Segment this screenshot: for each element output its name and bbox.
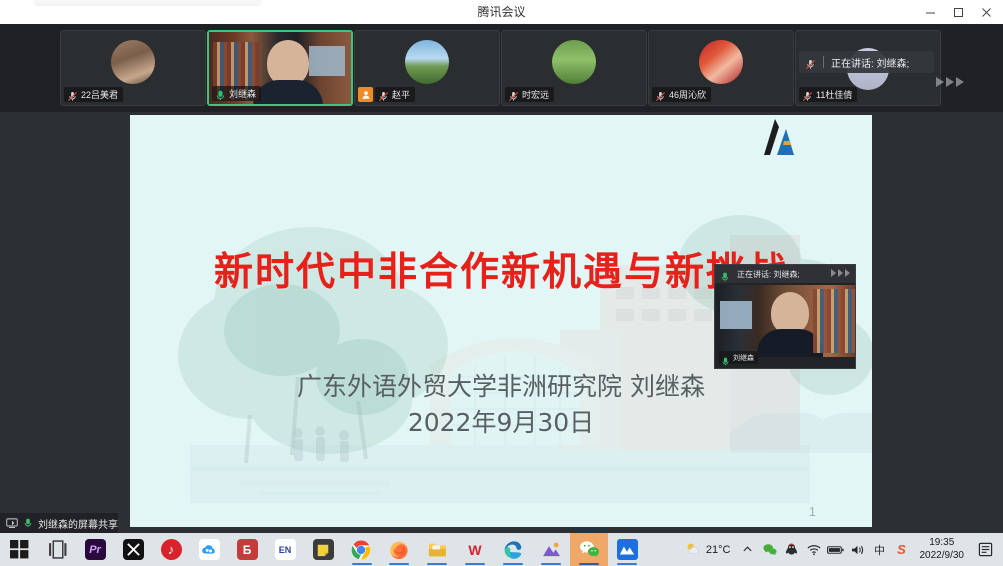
participant-name: 刘继森 [229,87,256,100]
speaking-now-banner: 正在讲话: 刘继森; [799,51,934,73]
avatar [699,40,743,84]
pip-nameplate: 刘继森 [719,351,758,364]
participant-nameplate: 11杜佳倩 [799,87,857,102]
pip-speaking-text: 正在讲话: 刘继森; [737,269,800,280]
participant-name: 11杜佳倩 [816,88,852,101]
app-title: 腾讯会议 [0,0,1003,24]
weather-temperature: 21°C [706,544,731,556]
video-tile[interactable]: 46周沁欣 [648,30,794,106]
taskbar-clock[interactable]: 19:35 2022/9/30 [913,533,972,566]
windows-taskbar: Pr ♪ Б EN [0,533,1003,566]
baidu-netdisk-icon[interactable] [190,533,228,566]
participant-name: 46周沁欣 [669,88,706,101]
mic-muted-icon [655,89,666,100]
mic-active-icon [23,518,33,528]
participant-name: 时宏远 [522,88,549,101]
bilibili-icon[interactable]: Б [228,533,266,566]
screen-share-icon [6,517,18,529]
weather-widget[interactable]: 21°C [679,542,737,557]
clock-date: 2022/9/30 [920,550,965,563]
pip-participant-name: 刘继森 [733,353,754,363]
partly-sunny-icon [685,542,702,557]
window-title-bar: 腾讯会议 [0,0,1003,24]
video-tile[interactable]: 赵平 [354,30,500,106]
wifi-icon[interactable] [803,533,825,566]
avatar [552,40,596,84]
maximize-button[interactable] [945,1,971,23]
slide-date: 2022年9月30日 [130,403,872,439]
chevron-collapse-icon[interactable] [830,265,852,283]
mic-active-icon [215,88,226,99]
start-button[interactable] [0,533,38,566]
host-badge-icon [358,87,373,102]
pip-camera-feed [717,285,855,357]
ime-chinese-icon[interactable]: 中 [869,533,891,566]
wechat-tray-icon[interactable] [759,533,781,566]
divider [823,56,824,68]
slide-page-number: 1 [809,504,816,519]
notepad-icon[interactable] [304,533,342,566]
tencent-meeting-icon[interactable] [608,533,646,566]
participant-nameplate: 赵平 [375,87,415,102]
volume-icon[interactable] [847,533,869,566]
mic-muted-icon [67,89,78,100]
chevron-collapse-icon[interactable] [934,74,968,90]
shared-screen-stage: 新时代中非合作新机遇与新挑战 广东外语外贸大学非洲研究院 刘继森 2022年9月… [0,112,1003,533]
wechat-icon[interactable] [570,533,608,566]
window-controls [917,0,999,24]
taskbar-app-list: Pr ♪ Б EN [0,533,646,566]
video-tile[interactable]: 时宏远 [501,30,647,106]
participant-name: 赵平 [392,88,410,101]
pip-speaking-banner: 正在讲话: 刘继森; [715,265,856,283]
participant-nameplate: 22吕美君 [64,87,123,102]
google-chrome-icon[interactable] [342,533,380,566]
participant-nameplate: 刘继森 [212,86,261,101]
file-explorer-icon[interactable] [418,533,456,566]
participant-nameplate: 时宏远 [505,87,554,102]
show-hidden-icons-chevron[interactable] [737,533,759,566]
system-tray: 21°C [679,533,1003,566]
mic-active-icon [721,353,730,362]
wps-office-icon[interactable]: W [456,533,494,566]
netease-music-icon[interactable]: ♪ [152,533,190,566]
ime-english-indicator[interactable]: EN [266,533,304,566]
avatar [405,40,449,84]
video-tile[interactable]: 刘继森 [207,30,353,106]
premiere-pro-icon[interactable]: Pr [76,533,114,566]
mic-muted-icon [802,89,813,100]
mic-muted-icon [805,57,816,68]
battery-icon[interactable] [825,533,847,566]
sogou-input-icon[interactable]: S [891,533,913,566]
screen-share-label: 刘继森的屏幕共享 [38,516,118,531]
capcut-icon[interactable] [114,533,152,566]
clock-time: 19:35 [929,537,954,550]
firefox-icon[interactable] [380,533,418,566]
participant-nameplate: 46周沁欣 [652,87,711,102]
photos-icon[interactable] [532,533,570,566]
avatar [111,40,155,84]
floating-speaker-window[interactable]: 正在讲话: 刘继森; 刘继森 [714,264,856,369]
slide-presenter: 广东外语外贸大学非洲研究院 刘继森 [130,367,872,403]
close-button[interactable] [973,1,999,23]
participant-video-strip: 22吕美君 刘继森 赵平 [0,24,1003,112]
notification-center-icon[interactable] [971,533,999,566]
mic-muted-icon [378,89,389,100]
gdufs-africa-institute-logo [750,117,802,157]
task-view-button[interactable] [38,533,76,566]
minimize-button[interactable] [917,1,943,23]
qq-tray-icon[interactable] [781,533,803,566]
microsoft-edge-icon[interactable] [494,533,532,566]
speaking-now-text: 正在讲话: 刘继森; [831,55,909,70]
mic-active-icon [720,269,731,280]
video-tile[interactable]: 22吕美君 [60,30,206,106]
mic-muted-icon [508,89,519,100]
screen-share-indicator[interactable]: 刘继森的屏幕共享 [0,513,118,533]
participant-name: 22吕美君 [81,88,118,101]
